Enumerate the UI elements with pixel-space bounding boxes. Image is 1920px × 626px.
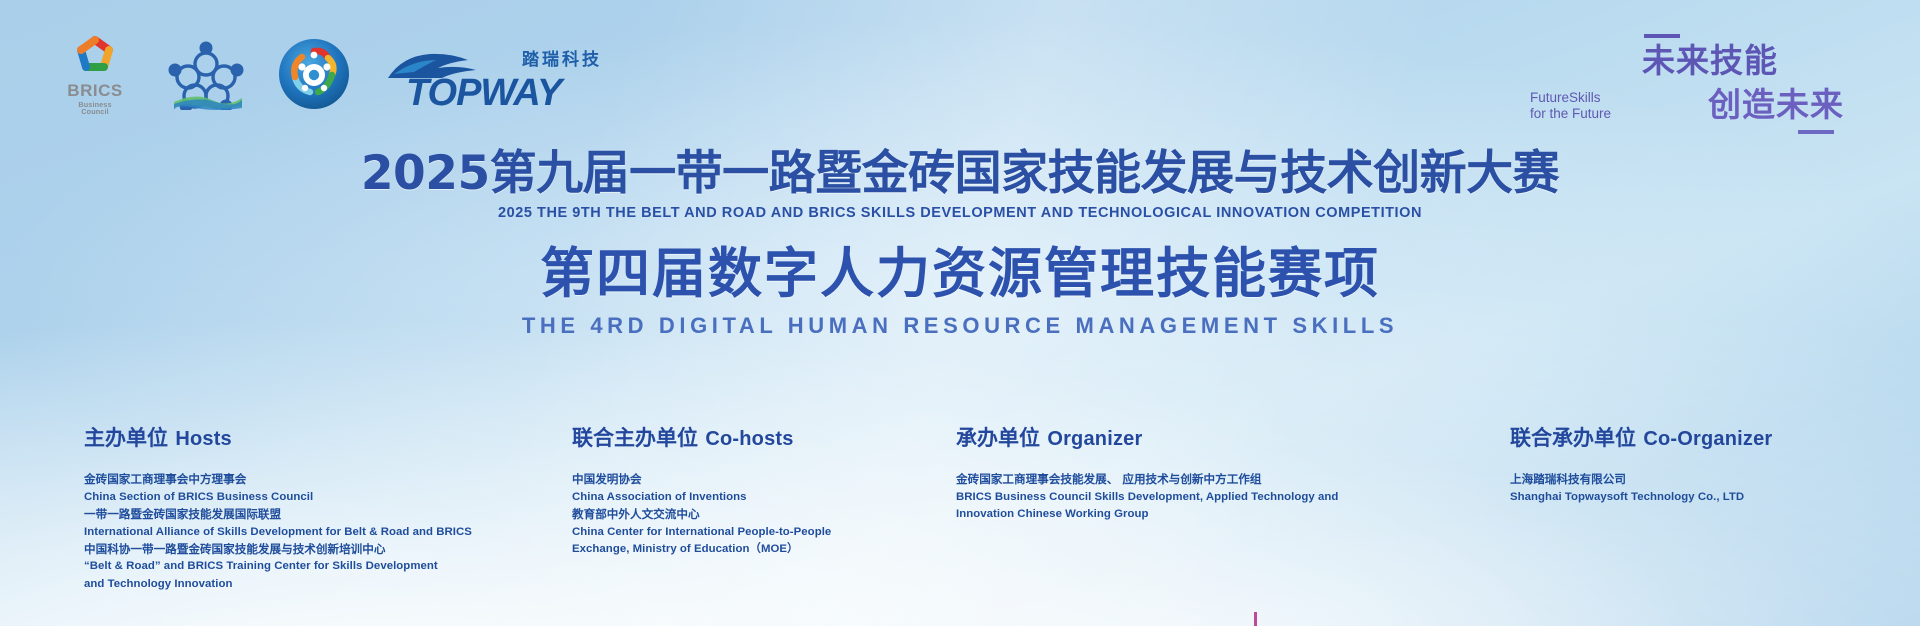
credit-line: China Section of BRICS Business Council (84, 489, 514, 506)
topway-logo: 踏瑞科技 TOPWAY (384, 48, 604, 110)
credit-line: China Center for International People-to… (572, 524, 902, 541)
sponsor-logo-row: BRICS Business Council (64, 32, 604, 110)
future-skills-cn-line2: 创造未来 (1708, 88, 1844, 121)
credit-line: Exchange, Ministry of Education（MOE） (572, 541, 902, 558)
future-skills-en: FutureSkillsfor the Future (1530, 90, 1611, 123)
credit-body-cohosts: 中国发明协会 China Association of Inventions 教… (572, 471, 902, 558)
credit-heading-organizer: 承办单位 Organizer (956, 428, 1376, 449)
credit-body-coorganizer: 上海踏瑞科技有限公司 Shanghai Topwaysoft Technolog… (1510, 471, 1910, 506)
credit-line: International Alliance of Skills Develop… (84, 524, 514, 541)
credit-heading-coorganizer: 联合承办单位 Co-Organizer (1510, 428, 1910, 449)
credit-heading-cn: 承办单位 (956, 426, 1040, 450)
credit-heading-cohosts: 联合主办单位 Co-hosts (572, 428, 902, 449)
credit-line: Innovation Chinese Working Group (956, 506, 1376, 523)
credit-heading-cn: 联合主办单位 (572, 426, 698, 450)
text-caret (1254, 612, 1257, 626)
future-skills-top-rule (1644, 34, 1680, 38)
brics-star-icon (71, 34, 119, 80)
credit-line: 金砖国家工商理事会中方理事会 (84, 471, 514, 489)
future-skills-en-line1: FutureSkills (1530, 90, 1601, 105)
credit-line: Shanghai Topwaysoft Technology Co., LTD (1510, 489, 1910, 506)
future-skills-cn-line1: 未来技能 (1642, 44, 1778, 77)
credit-heading-en: Co-hosts (705, 428, 793, 450)
credit-line: China Association of Inventions (572, 489, 902, 506)
credit-line: 中国发明协会 (572, 471, 902, 489)
credit-body-organizer: 金砖国家工商理事会技能发展、 应用技术与创新中方工作组 BRICS Busine… (956, 471, 1376, 523)
credit-line: and Technology Innovation (84, 576, 514, 593)
skills-alliance-rings-icon (168, 40, 244, 110)
credit-heading-cn: 主办单位 (84, 426, 168, 450)
credit-line: “Belt & Road” and BRICS Training Center … (84, 558, 514, 575)
credit-column-cohosts: 联合主办单位 Co-hosts 中国发明协会 China Association… (572, 428, 902, 558)
brics-skills-emblem-icon (278, 38, 350, 110)
credits-row: 主办单位 Hosts 金砖国家工商理事会中方理事会 China Section … (0, 428, 1920, 608)
sub-title-cn: 第四届数字人力资源管理技能赛项 (0, 246, 1920, 302)
credit-line: 一带一路暨金砖国家技能发展国际联盟 (84, 506, 514, 524)
brics-subtitle: Business Council (64, 101, 126, 116)
sub-title-en: THE 4RD DIGITAL HUMAN RESOURCE MANAGEMEN… (0, 315, 1920, 337)
brics-wordmark: BRICS (64, 82, 126, 99)
future-skills-bottom-rule (1798, 130, 1834, 134)
future-skills-en-line2: for the Future (1530, 106, 1611, 121)
credit-heading-cn: 联合承办单位 (1510, 426, 1636, 450)
credit-heading-en: Co-Organizer (1643, 428, 1772, 450)
competition-banner: BRICS Business Council (0, 0, 1920, 626)
main-title-cn: 2025第九届一带一路暨金砖国家技能发展与技术创新大赛 (0, 150, 1920, 199)
topway-chinese-name: 踏瑞科技 (522, 52, 602, 69)
credit-column-coorganizer: 联合承办单位 Co-Organizer 上海踏瑞科技有限公司 Shanghai … (1510, 428, 1910, 506)
credit-heading-en: Hosts (175, 428, 232, 450)
brics-business-council-logo: BRICS Business Council (64, 34, 126, 110)
credit-line: 上海踏瑞科技有限公司 (1510, 471, 1910, 489)
credit-column-hosts: 主办单位 Hosts 金砖国家工商理事会中方理事会 China Section … (84, 428, 514, 593)
credit-column-organizer: 承办单位 Organizer 金砖国家工商理事会技能发展、 应用技术与创新中方工… (956, 428, 1376, 523)
credit-body-hosts: 金砖国家工商理事会中方理事会 China Section of BRICS Bu… (84, 471, 514, 593)
credit-line: BRICS Business Council Skills Developmen… (956, 489, 1376, 506)
future-skills-lockup: 未来技能 FutureSkillsfor the Future 创造未来 (1526, 26, 1856, 138)
title-block: 2025第九届一带一路暨金砖国家技能发展与技术创新大赛 2025 THE 9TH… (0, 150, 1920, 337)
credit-line: 金砖国家工商理事会技能发展、 应用技术与创新中方工作组 (956, 471, 1376, 489)
credit-heading-en: Organizer (1047, 428, 1142, 450)
main-title-en: 2025 THE 9TH THE BELT AND ROAD AND BRICS… (0, 206, 1920, 221)
topway-wordmark: TOPWAY (406, 74, 561, 112)
credit-line: 中国科协一带一路暨金砖国家技能发展与技术创新培训中心 (84, 541, 514, 559)
credit-line: 教育部中外人文交流中心 (572, 506, 902, 524)
credit-heading-hosts: 主办单位 Hosts (84, 428, 514, 449)
